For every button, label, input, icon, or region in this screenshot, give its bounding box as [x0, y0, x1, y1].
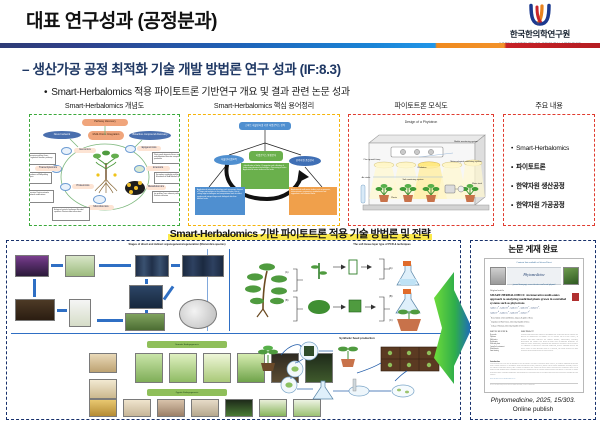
workflow-photo-tubes: [135, 255, 169, 277]
workflow-photo-zygotic-1: [89, 399, 117, 417]
phytotron-label-soil: Soil monitoring system: [395, 179, 431, 182]
concept-note-transcriptomics: Transcript abundance mRNA profiling RNA-…: [30, 172, 52, 184]
summary-item-1: 파이토트론: [511, 161, 594, 171]
concept-note-metabolomics: Secondary metabolite profiling Elucidati…: [154, 172, 179, 184]
workflow-photo-torpedo: [203, 353, 231, 383]
phytotron-label-mobile: Mobile monitoring system: [451, 141, 481, 144]
workflow-section-title-somatic: Somatic Embryogenesis: [147, 341, 227, 348]
summary-item-0: Smart-Herbalomics: [511, 145, 594, 152]
workflow-top-right-title: The soft tissue layer type of PCR & tech…: [317, 243, 447, 246]
phytotron-label-lamp: Plant growth lamp: [359, 159, 385, 162]
green-arrow-icon: [432, 268, 474, 388]
paper-footer-link: https://doi.org/10.1016/j.phymed.2025.xx…: [490, 379, 578, 380]
paper-footer-note: Received 12 January 2025; Received in re…: [490, 383, 578, 386]
concept-note-proteomics: Protein expression Protein networks Post…: [30, 190, 54, 203]
workflow-photo-zygotic-4: [191, 399, 219, 417]
workflow-photo-tray: [15, 299, 55, 321]
paper-affiliations: a Korea Institute of Oriental Medicine, …: [490, 317, 577, 329]
paper-thumbnail: Contents lists available at ScienceDirec…: [484, 258, 584, 393]
paper-keywords-column: A R T I C L E I N F O Keywords:Phytotron…: [490, 331, 516, 354]
workflow-arrow: [33, 279, 36, 297]
paper-caption-line1: Phytomedicine, 2025, 15/303.: [491, 397, 576, 404]
workflow-divider-vertical: [229, 249, 230, 331]
omics-icon-genomics: [61, 147, 72, 155]
workflow-photo-explant: [65, 255, 95, 277]
workflow-photo-jars: [182, 255, 224, 277]
slide-header: 대표 연구성과 (공정분과) 한국한의학연구원 KOREA INSTITUTE …: [0, 0, 600, 48]
omics-icon-metabolomics: [134, 165, 145, 173]
svg-text:(A): (A): [285, 270, 289, 274]
summary-list: Smart-Herbalomics 파이토트론 한약자원 생산공정 한약자원 가…: [504, 131, 594, 209]
svg-text:(B): (B): [285, 298, 289, 302]
svg-text:(A): (A): [389, 266, 393, 270]
paper-article-type: Original article: [490, 290, 504, 292]
omics-label-genomics: Genomics: [74, 148, 96, 153]
workflow-photo-somatic-cells: [89, 353, 117, 373]
workflow-photo-petri: [179, 299, 217, 329]
paper-body-text: Introduction Herbal medicines have been …: [490, 361, 578, 377]
omics-icon-proteomics: [60, 183, 71, 191]
column-title-summary: 주요 내용: [503, 101, 595, 111]
column-title-terms: Smart-Herbalomics 핵심 용어정리: [188, 101, 340, 111]
crossmark-icon: [572, 293, 579, 301]
terms-node-herbalomics: 허벌로믹스 통합분석: [249, 151, 283, 161]
paper-cover-image: [563, 267, 579, 285]
workflow-photo-zygotic-3: [157, 399, 185, 417]
terms-node-iot: 사물인터넷(IoT): [214, 155, 244, 165]
plant-illustration-icon: [88, 149, 124, 199]
paper-journal-band: Phytomedicine: [507, 267, 561, 285]
workflow-synthetic-seed-diagram: [235, 337, 451, 403]
workflow-photo-heart: [169, 353, 197, 383]
terms-node-quality: 한약자원 품질관리: [289, 156, 321, 166]
paper-panel-title: 논문 게재 완료: [470, 243, 596, 255]
phytotron-label-meteo: Meteorological monitoring system: [449, 161, 483, 164]
paper-article-title: SMART-HERBALOMICS: An innovative multi-o…: [490, 294, 569, 305]
phytotron-label-radiation: Radiation: [411, 167, 433, 170]
workflow-photo-plant-in-vitro: [69, 299, 91, 327]
workflow-section-title-zygotic: Zygotic Embryogenesis: [147, 389, 227, 396]
phytotron-label-airintake: Air intake: [357, 177, 375, 180]
paper-abstract-column: A B S T R A C T Medicinal plants grown u…: [521, 331, 578, 353]
omics-label-metabolomics: Ionomics: [146, 166, 170, 171]
panel-terms-diagram: 스마트 사물인터넷 기반 허벌로믹스 전략 사물인터넷(IoT) 허벌로믹스 통…: [188, 114, 340, 226]
column-title-phytotron: 파이토트론 모식도: [348, 101, 494, 111]
workflow-arrow: [145, 310, 148, 313]
workflow-photo-zygotic-2: [123, 399, 151, 417]
terms-right-box: Application of multi-omics studies such …: [289, 187, 337, 215]
summary-item-3: 한약자원 가공공정: [511, 199, 594, 209]
paper-journal-homepage: journal homepage: www.elsevier.com/locat…: [507, 284, 561, 286]
kiom-logo-icon: [527, 3, 553, 27]
omics-icon-epigenomics: [125, 145, 136, 153]
workflow-photo-callus: [89, 379, 117, 399]
ionomics-dot: [129, 190, 133, 194]
section-heading: – 생산가공 공정 최적화 기술 개발 방법론 연구 성과 (IF:8.3): [22, 58, 341, 78]
workflow-arrow: [51, 264, 63, 267]
svg-text:(C): (C): [389, 318, 393, 322]
bullet-marker: •: [44, 87, 47, 98]
paper-journal-cover-thumb: [490, 267, 506, 285]
concept-note-epigenomics: Plant growth elements Stress response an…: [152, 152, 179, 164]
terms-left-box: Application of advanced technology such …: [195, 187, 245, 215]
concept-note-genomics: Gene expression profiling Gene-network r…: [30, 153, 56, 165]
header-accent-rule: [0, 43, 600, 48]
workflow-spacer: [21, 285, 23, 287]
section-bullet: •Smart-Herbalomics 적용 파이토트론 기반연구 개요 및 결과…: [44, 83, 350, 98]
workflow-explant-diagram: (A) (B) (A) (B) (C): [233, 251, 449, 331]
middle-caption: Smart-Herbalomics 기반 파이토트론 적용 기술 방법론 및 전…: [0, 226, 600, 241]
workflow-arrow: [171, 264, 180, 267]
panel-summary-list: Smart-Herbalomics 파이토트론 한약자원 생산공정 한약자원 가…: [503, 114, 595, 226]
terms-center-box: • Identification of herbs • Propagation …: [241, 163, 289, 189]
panel-phytotron-diagram: Design of a Phytotron: [348, 114, 494, 226]
summary-item-2: 한약자원 생산공정: [511, 180, 594, 190]
panel-concept-diagram: Pathway discovery Novel network Multi-Om…: [29, 114, 180, 226]
paper-header-line: Contents lists available at ScienceDirec…: [490, 262, 578, 264]
ionomics-dot: [138, 181, 142, 185]
workflow-photo-culture-shelf: [15, 255, 49, 277]
workflow-divider-horizontal: [11, 333, 451, 334]
workflow-photo-plantlets: [125, 313, 165, 331]
page-title: 대표 연구성과 (공정분과): [26, 6, 217, 33]
paper-authors: Author A a, Author B b, Author C a, Auth…: [490, 306, 577, 316]
phytotron-label-water: Water tank: [467, 183, 487, 186]
workflow-arrow: [145, 279, 148, 284]
paper-caption: Phytomedicine, 2025, 15/303. Online publ…: [470, 396, 596, 415]
paper-caption-line2: Online publish: [513, 406, 554, 413]
workflow-arrow: [57, 309, 67, 312]
phytotron-caption: Design of a Phytotron: [349, 120, 493, 124]
logo-name-korean: 한국한의학연구원: [492, 28, 588, 40]
column-title-concept: Smart-Herbalomics 개념도: [29, 101, 180, 111]
phytotron-label-plants: Plants: [385, 197, 403, 200]
omics-label-ionomics: Metabolomics: [146, 185, 166, 190]
svg-text:(B): (B): [389, 294, 393, 298]
ionomics-dot: [134, 186, 138, 190]
concept-note-ionomics: Ion profiling Trace element profiling Nu…: [152, 191, 179, 203]
omics-label-microbiomics: Microbiomics: [88, 205, 114, 210]
workflow-arrow: [97, 319, 123, 322]
concept-note-microbiomics: Biological control of pathways Microbial…: [52, 207, 90, 221]
ionomics-dot: [127, 183, 131, 187]
panel-workflow-diagram: Stages of direct and indirect organogene…: [6, 240, 461, 420]
workflow-arrow: [163, 286, 175, 301]
omics-icon-microbiomics: [93, 195, 106, 204]
omics-label-proteomics: Proteomics: [72, 184, 94, 189]
bullet-text: Smart-Herbalomics 적용 파이토트론 기반연구 개요 및 결과 …: [51, 87, 350, 98]
paper-journal-name: Phytomedicine: [507, 268, 561, 277]
workflow-photo-globular: [135, 353, 163, 383]
organization-logo: 한국한의학연구원 KOREA INSTITUTE OF ORIENTAL MED…: [492, 3, 588, 46]
omics-label-epigenomics: Epigenomics: [137, 146, 161, 151]
middle-caption-text: Smart-Herbalomics 기반 파이토트론 적용 기술 방법론 및 전…: [168, 228, 432, 240]
workflow-top-left-title: Stages of direct and indirect organogene…: [77, 243, 277, 246]
workflow-arrow: [99, 264, 131, 267]
workflow-photo-tubes-2: [129, 285, 163, 309]
omics-label-transcriptomics: Transcriptomics: [35, 166, 61, 171]
